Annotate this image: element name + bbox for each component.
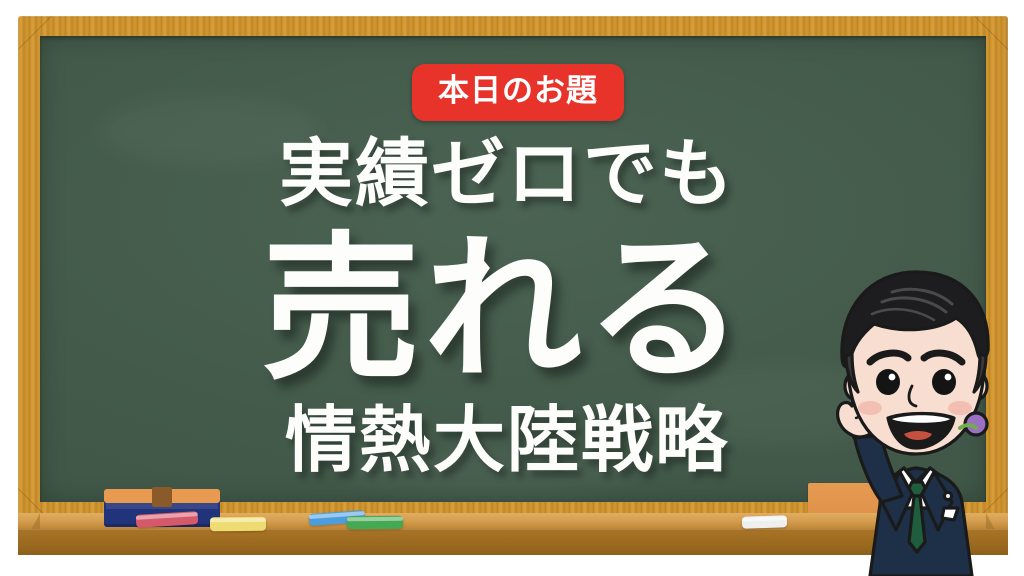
chalk-green <box>347 516 403 529</box>
eye-left <box>876 369 900 395</box>
eye-highlight-left <box>889 374 896 381</box>
slide-canvas: 本日のお題 実績ゼロでも 売れる 情熱大陸戦略 <box>0 0 1024 576</box>
eye-right <box>932 369 956 395</box>
pocket-square <box>942 508 958 520</box>
topic-badge-label: 本日のお題 <box>438 76 598 107</box>
chalk-yellow <box>210 517 266 531</box>
lapel-pin <box>944 492 951 499</box>
eraser-grip <box>152 487 172 507</box>
chalk-white <box>742 515 787 529</box>
cheek-left <box>858 401 882 415</box>
headline-line-top: 実績ゼロでも <box>0 137 1024 211</box>
presenter-character <box>808 258 1024 576</box>
eye-highlight-right <box>945 374 952 381</box>
topic-badge: 本日のお題 <box>412 64 624 121</box>
cheek-right <box>948 401 972 415</box>
